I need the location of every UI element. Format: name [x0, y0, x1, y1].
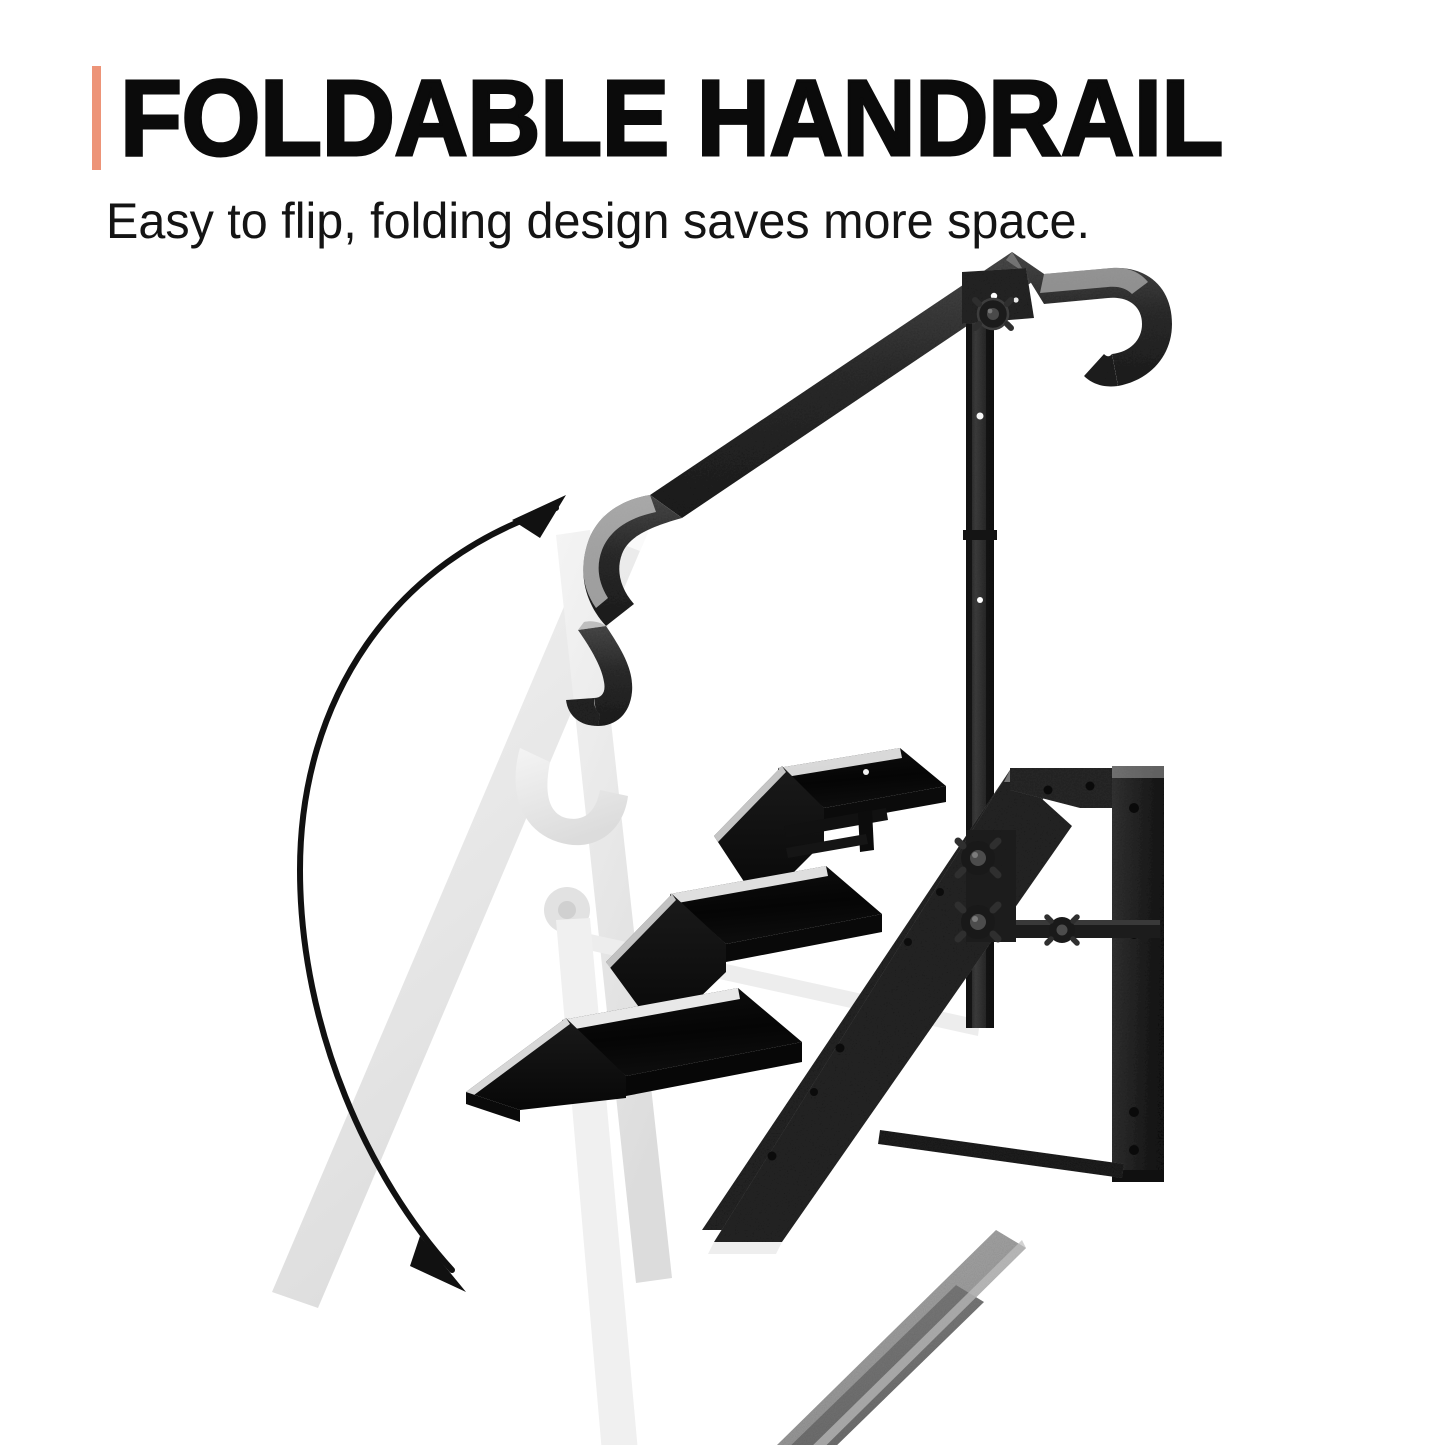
arrowhead-up	[512, 495, 566, 538]
ghost-folded-rail	[478, 1230, 1026, 1445]
product-illustration	[0, 230, 1445, 1445]
pivot-knob-brace[interactable]	[1047, 917, 1077, 943]
plate-hole-3	[1129, 1107, 1139, 1117]
handrail-lower-hook	[566, 621, 632, 726]
page-title: FOLDABLE HANDRAIL	[120, 66, 1223, 170]
handrail-left-elbow	[583, 495, 682, 626]
plate-hole-1	[1129, 803, 1139, 813]
ghost-hook-light	[516, 748, 628, 845]
pivot-bracket-upper	[962, 268, 1034, 329]
pivot-knob-upper[interactable]	[975, 299, 1011, 329]
cross-brace-lower	[878, 1130, 1124, 1178]
post-hole-top	[977, 413, 984, 420]
fold-direction-arc-arrow	[300, 495, 566, 1292]
product-svg	[0, 230, 1445, 1445]
stringer-hole-3	[836, 1044, 845, 1053]
ghost-pivot-light	[544, 887, 590, 933]
cross-brace	[1000, 920, 1160, 938]
stringer-hole-5	[810, 1088, 818, 1096]
arrowhead-down	[410, 1236, 466, 1292]
stringer-hole-1	[936, 888, 944, 896]
inner-upright	[858, 810, 874, 852]
ghost-leg-light	[556, 918, 640, 1445]
arm-hole-2	[1086, 782, 1095, 791]
pivot-knob-stringer-lower[interactable]	[958, 905, 998, 939]
product-marketing-image: FOLDABLE HANDRAIL Easy to flip, folding …	[0, 0, 1445, 1445]
title-accent-bar	[92, 66, 101, 170]
tread-top-hole	[863, 769, 869, 775]
header-block: FOLDABLE HANDRAIL Easy to flip, folding …	[0, 0, 1445, 260]
post-hole-upper	[977, 597, 983, 603]
stringer-hole-2	[904, 938, 912, 946]
handrail-top-hook	[1012, 252, 1172, 387]
stringer-hole-4	[768, 1152, 777, 1161]
plate-hole-4	[1129, 1145, 1139, 1155]
title-row: FOLDABLE HANDRAIL	[92, 66, 1293, 170]
pivot-knob-stringer-upper[interactable]	[958, 841, 998, 875]
arm-hole-1	[1044, 786, 1053, 795]
